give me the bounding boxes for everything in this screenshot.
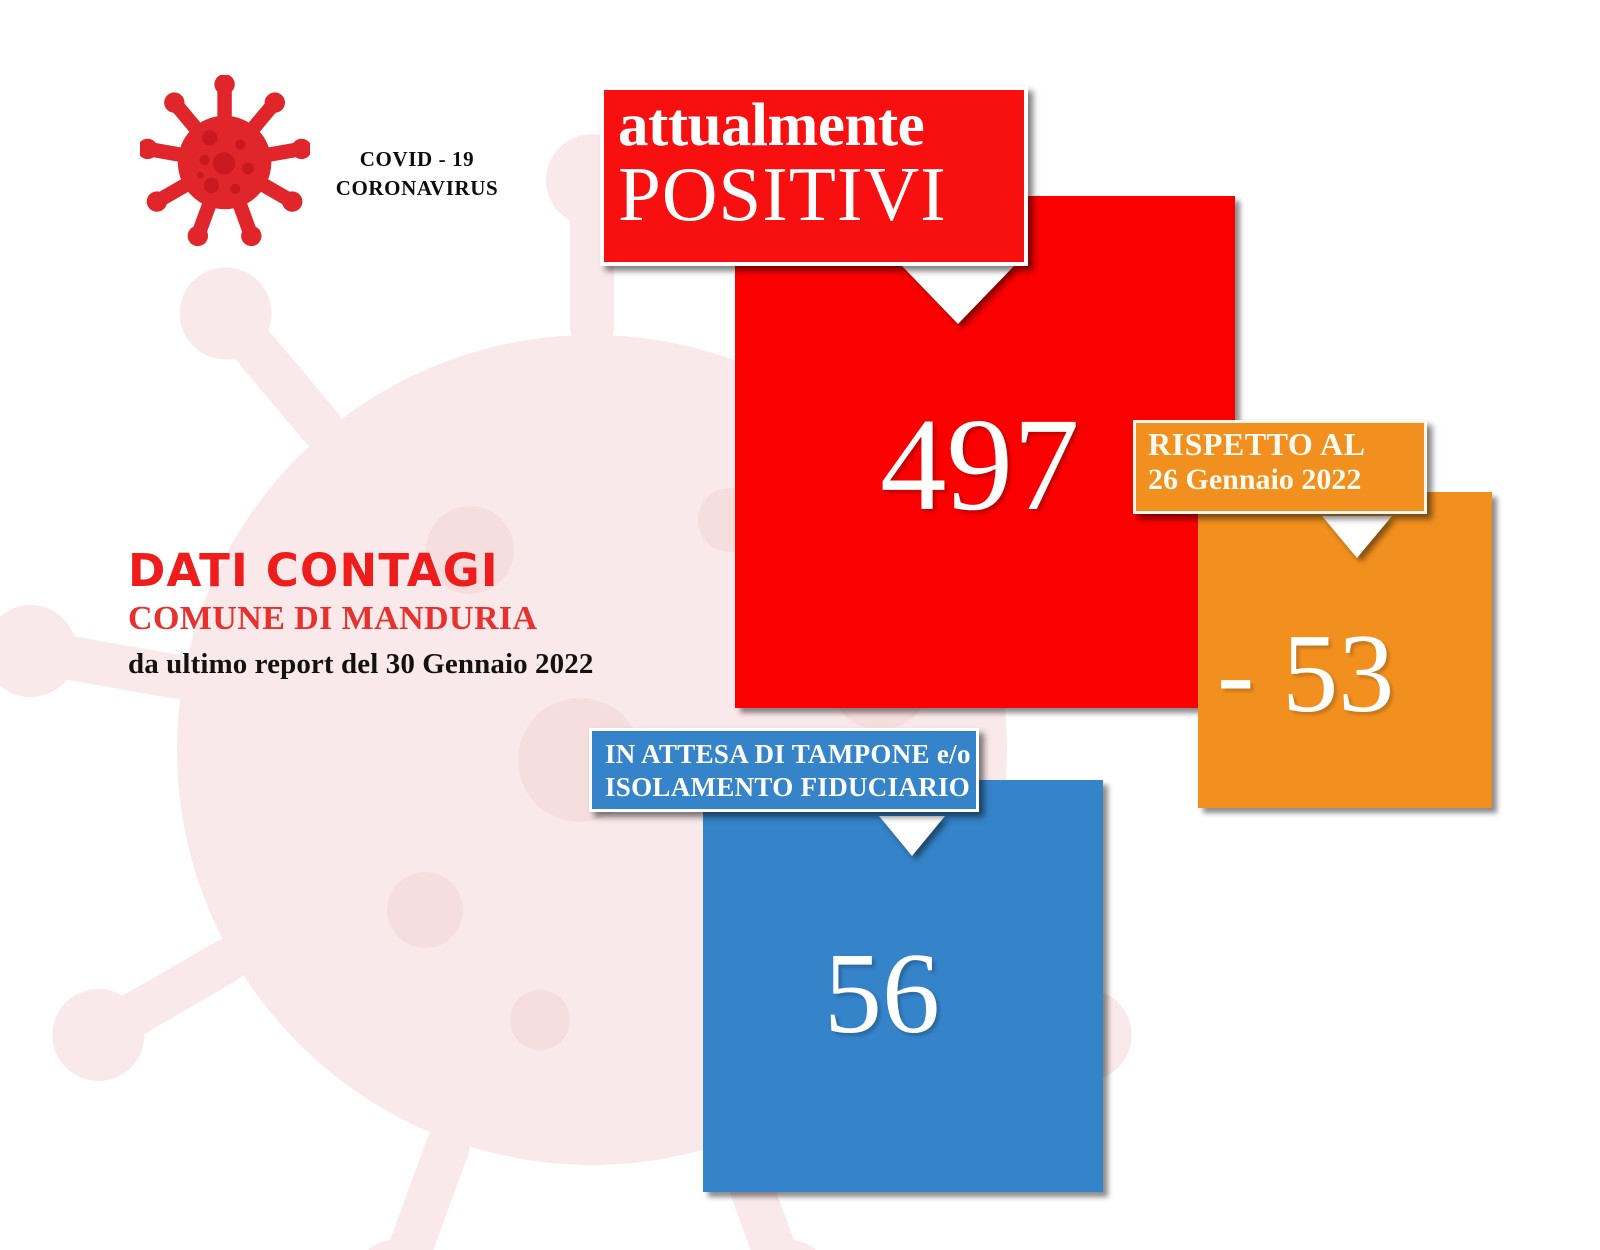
page-subtitle: COMUNE DI MANDURIA [128,598,593,641]
logo-text-block: COVID - 19 CORONAVIRUS [312,145,522,203]
triangle-down-icon-orange [1322,516,1392,558]
label-rispetto-al: RISPETTO AL 26 Gennaio 2022 [1133,420,1427,514]
logo-line-2: CORONAVIRUS [312,174,522,203]
label-in-attesa-tampone-line2: ISOLAMENTO FIDUCIARIO [605,771,976,804]
logo-line-1: COVID - 19 [312,145,522,174]
label-in-attesa-tampone-line1: IN ATTESA DI TAMPONE e/o [605,738,976,771]
label-attualmente-positivi-line2: POSITIVI [618,158,1024,232]
report-date-note: da ultimo report del 30 Gennaio 2022 [128,648,593,681]
label-attualmente-positivi-line1: attualmente [618,96,1024,156]
value-attualmente-positivi: 497 [880,398,1080,531]
triangle-down-icon-red [902,266,1014,324]
page-title: DATI CONTAGI [128,548,593,594]
infographic-poster: COVID - 19 CORONAVIRUS DATI CONTAGI COMU… [0,0,1600,1250]
value-in-attesa-tampone: 56 [824,936,940,1052]
label-in-attesa-tampone: IN ATTESA DI TAMPONE e/o ISOLAMENTO FIDU… [589,728,979,812]
title-block: DATI CONTAGI COMUNE DI MANDURIA da ultim… [128,548,593,681]
triangle-down-icon-blue [879,816,945,856]
label-rispetto-al-line2: 26 Gennaio 2022 [1148,465,1424,495]
label-attualmente-positivi: attualmente POSITIVI [600,86,1028,266]
label-rispetto-al-line1: RISPETTO AL [1148,428,1424,460]
value-variazione: - 53 [1217,618,1394,730]
coronavirus-logo-icon [140,75,310,250]
